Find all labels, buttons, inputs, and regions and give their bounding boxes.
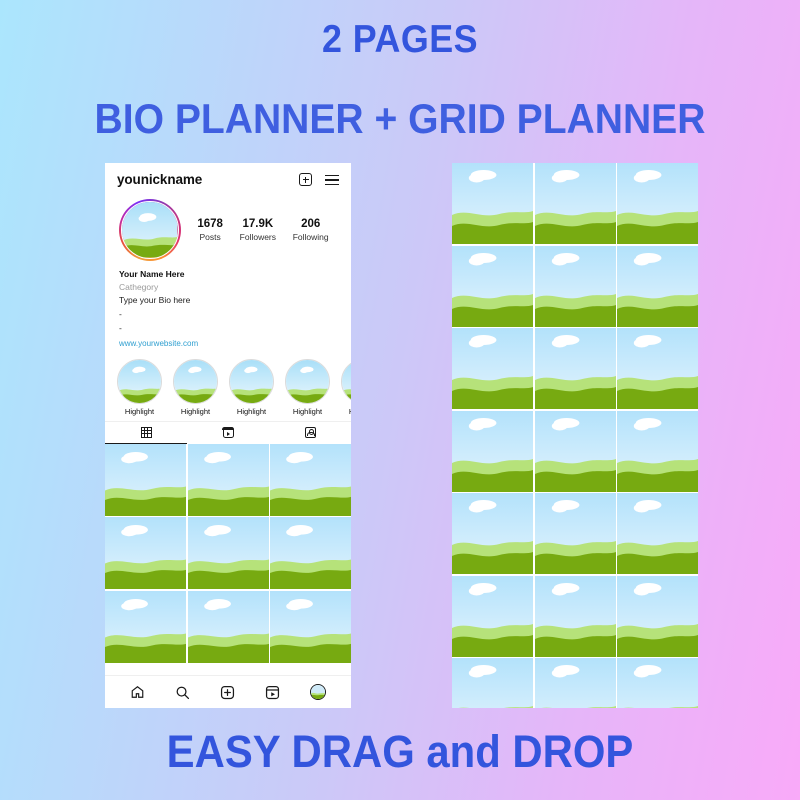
- planner-thumbnail[interactable]: [452, 493, 533, 574]
- landscape-thumbnail: [105, 591, 186, 663]
- profile-summary-row: 1678 Posts 17.9K Followers 206 Following: [105, 196, 351, 261]
- list-item[interactable]: Highlight: [117, 359, 162, 416]
- stat-following[interactable]: 206 Following: [293, 217, 329, 244]
- planner-thumbnail[interactable]: [452, 246, 533, 327]
- stat-following-value: 206: [293, 217, 329, 232]
- planner-thumbnail[interactable]: [617, 246, 698, 327]
- highlight-label: Highlight: [229, 407, 274, 416]
- list-item[interactable]: Highlight: [173, 359, 218, 416]
- stat-following-label: Following: [293, 232, 329, 244]
- bio-text-line-2: -: [119, 308, 337, 322]
- list-item[interactable]: Highlight: [229, 359, 274, 416]
- landscape-thumbnail: [452, 411, 533, 492]
- post-thumbnail[interactable]: [270, 517, 351, 589]
- landscape-thumbnail: [270, 517, 351, 589]
- landscape-thumbnail: [617, 576, 698, 657]
- landscape-thumbnail: [535, 493, 616, 574]
- headline-drag-drop: EASY DRAG and DROP: [28, 726, 772, 778]
- landscape-thumbnail: [452, 163, 533, 244]
- planner-thumbnail[interactable]: [452, 658, 533, 708]
- bio-display-name: Your Name Here: [119, 268, 337, 281]
- profile-username: younickname: [117, 172, 291, 187]
- planner-thumbnail[interactable]: [535, 328, 616, 409]
- landscape-thumbnail: [535, 328, 616, 409]
- tab-tagged[interactable]: [269, 422, 351, 444]
- landscape-thumbnail: [311, 685, 325, 699]
- bottom-navigation-bar: [105, 675, 351, 708]
- plus-square-icon[interactable]: [299, 173, 312, 186]
- stat-posts[interactable]: 1678 Posts: [197, 217, 223, 244]
- highlight-label: Highlight: [173, 407, 218, 416]
- post-thumbnail[interactable]: [105, 444, 186, 516]
- header-icon-group: [299, 173, 339, 186]
- landscape-thumbnail: [230, 360, 273, 403]
- landscape-thumbnail: [535, 411, 616, 492]
- landscape-thumbnail: [270, 591, 351, 663]
- profile-bio: Your Name Here Cathegory Type your Bio h…: [105, 261, 351, 351]
- reels-icon: [223, 427, 234, 438]
- hamburger-menu-icon[interactable]: [325, 174, 339, 185]
- stat-posts-label: Posts: [197, 232, 223, 244]
- planner-thumbnail[interactable]: [535, 246, 616, 327]
- grid-icon: [141, 427, 152, 438]
- planner-thumbnail[interactable]: [452, 163, 533, 244]
- landscape-thumbnail: [535, 163, 616, 244]
- highlight-label: Highlight: [285, 407, 330, 416]
- highlight-cover-3[interactable]: [229, 359, 274, 404]
- planner-thumbnail[interactable]: [617, 163, 698, 244]
- planner-thumbnail[interactable]: [535, 658, 616, 708]
- grid-planner-panel: [452, 163, 698, 708]
- post-thumbnail[interactable]: [105, 517, 186, 589]
- highlight-label: Highlight: [341, 407, 351, 416]
- reels-icon[interactable]: [265, 685, 280, 700]
- planner-thumbnail[interactable]: [535, 163, 616, 244]
- highlight-cover-2[interactable]: [173, 359, 218, 404]
- profile-tab-bar: [105, 421, 351, 444]
- highlight-cover-4[interactable]: [285, 359, 330, 404]
- stat-followers[interactable]: 17.9K Followers: [240, 217, 276, 244]
- profile-avatar-icon[interactable]: [310, 684, 326, 700]
- search-icon[interactable]: [175, 685, 190, 700]
- landscape-thumbnail: [617, 328, 698, 409]
- planner-thumbnail[interactable]: [535, 493, 616, 574]
- landscape-thumbnail: [452, 328, 533, 409]
- highlight-cover-5[interactable]: [341, 359, 351, 404]
- landscape-thumbnail: [617, 658, 698, 708]
- planner-thumbnail[interactable]: [617, 576, 698, 657]
- avatar: [121, 201, 178, 258]
- landscape-thumbnail: [188, 444, 269, 516]
- landscape-thumbnail: [617, 246, 698, 327]
- post-thumbnail[interactable]: [105, 591, 186, 663]
- landscape-thumbnail: [122, 202, 177, 257]
- stat-followers-value: 17.9K: [240, 217, 276, 232]
- highlight-cover-1[interactable]: [117, 359, 162, 404]
- planner-thumbnail[interactable]: [617, 411, 698, 492]
- landscape-thumbnail: [105, 444, 186, 516]
- story-highlights-row[interactable]: Highlight Highlight Highlight Highlight …: [105, 351, 351, 416]
- planner-thumbnail[interactable]: [452, 576, 533, 657]
- landscape-thumbnail: [452, 658, 533, 708]
- landscape-thumbnail: [617, 493, 698, 574]
- tagged-icon: [305, 427, 316, 438]
- planner-thumbnail[interactable]: [535, 411, 616, 492]
- landscape-thumbnail: [286, 360, 329, 403]
- landscape-thumbnail: [270, 444, 351, 516]
- stat-followers-label: Followers: [240, 232, 276, 244]
- list-item[interactable]: Highlight: [285, 359, 330, 416]
- landscape-thumbnail: [342, 360, 351, 403]
- bio-website-link[interactable]: www.yourwebsite.com: [119, 337, 337, 351]
- highlight-label: Highlight: [117, 407, 162, 416]
- landscape-thumbnail: [452, 576, 533, 657]
- post-thumbnail[interactable]: [270, 591, 351, 663]
- bio-text-line-1: Type your Bio here: [119, 294, 337, 308]
- post-thumbnail[interactable]: [270, 444, 351, 516]
- profile-stats: 1678 Posts 17.9K Followers 206 Following: [181, 217, 337, 244]
- list-item[interactable]: Highlight: [341, 359, 351, 416]
- profile-post-grid: [105, 444, 351, 663]
- landscape-thumbnail: [174, 360, 217, 403]
- post-thumbnail[interactable]: [188, 517, 269, 589]
- profile-header: younickname: [105, 163, 351, 196]
- stat-posts-value: 1678: [197, 217, 223, 232]
- landscape-thumbnail: [617, 411, 698, 492]
- planner-thumbnail[interactable]: [617, 658, 698, 708]
- profile-avatar-story-ring[interactable]: [119, 199, 181, 261]
- landscape-thumbnail: [452, 493, 533, 574]
- planner-thumbnail[interactable]: [452, 411, 533, 492]
- tab-grid[interactable]: [105, 422, 187, 444]
- phone-mockup-bio-planner: younickname: [105, 163, 351, 708]
- add-post-icon[interactable]: [220, 685, 235, 700]
- landscape-thumbnail: [617, 163, 698, 244]
- landscape-thumbnail: [535, 658, 616, 708]
- headline-pages-count: 2 PAGES: [32, 18, 768, 62]
- landscape-thumbnail: [105, 517, 186, 589]
- planner-thumbnail[interactable]: [452, 328, 533, 409]
- landscape-thumbnail: [535, 246, 616, 327]
- planner-thumbnail[interactable]: [535, 576, 616, 657]
- landscape-thumbnail: [188, 517, 269, 589]
- tab-reels[interactable]: [187, 422, 269, 444]
- headline-product-subtitle: BIO PLANNER + GRID PLANNER: [28, 95, 772, 143]
- landscape-thumbnail: [188, 591, 269, 663]
- landscape-thumbnail: [118, 360, 161, 403]
- bio-text-line-3: -: [119, 322, 337, 336]
- home-icon[interactable]: [130, 685, 145, 699]
- bio-category: Cathegory: [119, 281, 337, 294]
- landscape-thumbnail: [535, 576, 616, 657]
- post-thumbnail[interactable]: [188, 444, 269, 516]
- landscape-thumbnail: [452, 246, 533, 327]
- planner-thumbnail[interactable]: [617, 493, 698, 574]
- planner-thumbnail[interactable]: [617, 328, 698, 409]
- post-thumbnail[interactable]: [188, 591, 269, 663]
